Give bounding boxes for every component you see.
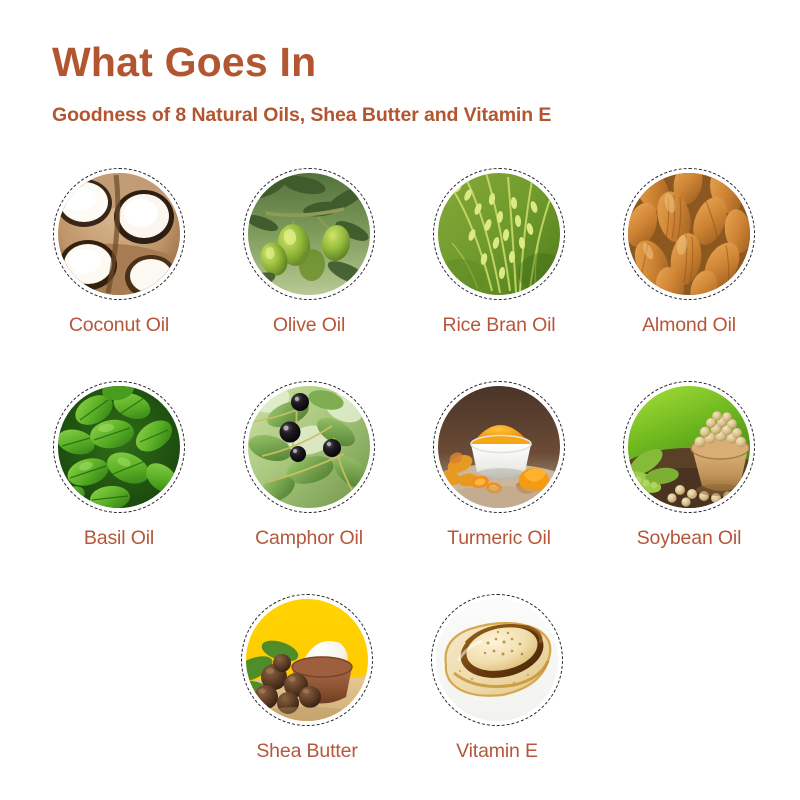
ingredient-label: Shea Butter (256, 740, 357, 763)
ingredient-circle (431, 594, 563, 726)
dashed-ring (241, 594, 373, 726)
ingredient-item-vitamin-e[interactable]: Vitamin E (402, 594, 592, 763)
dashed-ring (623, 381, 755, 513)
ingredient-label: Turmeric Oil (447, 527, 551, 550)
ingredient-circle (623, 381, 755, 513)
ingredient-circle (623, 168, 755, 300)
ingredient-item-coconut-oil[interactable]: Coconut Oil (24, 168, 214, 337)
ingredient-circle (243, 381, 375, 513)
dashed-ring (243, 381, 375, 513)
dashed-ring (53, 381, 185, 513)
ingredient-grid: Coconut Oil (0, 168, 800, 763)
ingredient-circle (433, 381, 565, 513)
ingredient-item-turmeric-oil[interactable]: Turmeric Oil (404, 381, 594, 550)
ingredient-label: Rice Bran Oil (443, 314, 556, 337)
ingredient-row: Basil Oil (0, 381, 800, 550)
ingredient-item-almond-oil[interactable]: Almond Oil (594, 168, 784, 337)
ingredient-row: Coconut Oil (0, 168, 800, 337)
ingredient-circle (53, 168, 185, 300)
ingredient-label: Almond Oil (642, 314, 736, 337)
dashed-ring (433, 381, 565, 513)
dashed-ring (431, 594, 563, 726)
page-subtitle: Goodness of 8 Natural Oils, Shea Butter … (52, 104, 752, 127)
ingredient-item-camphor-oil[interactable]: Camphor Oil (214, 381, 404, 550)
ingredient-label: Vitamin E (456, 740, 538, 763)
header: What Goes In Goodness of 8 Natural Oils,… (52, 40, 752, 127)
ingredient-circle (243, 168, 375, 300)
ingredient-label: Soybean Oil (637, 527, 742, 550)
ingredients-infographic: What Goes In Goodness of 8 Natural Oils,… (0, 0, 800, 800)
ingredient-circle (433, 168, 565, 300)
ingredient-label: Coconut Oil (69, 314, 169, 337)
ingredient-label: Camphor Oil (255, 527, 363, 550)
ingredient-circle (241, 594, 373, 726)
ingredient-label: Basil Oil (84, 527, 154, 550)
page-title: What Goes In (52, 40, 752, 84)
dashed-ring (53, 168, 185, 300)
ingredient-item-basil-oil[interactable]: Basil Oil (24, 381, 214, 550)
ingredient-row: Shea Butter (0, 594, 800, 763)
ingredient-item-shea-butter[interactable]: Shea Butter (212, 594, 402, 763)
ingredient-item-soybean-oil[interactable]: Soybean Oil (594, 381, 784, 550)
ingredient-label: Olive Oil (273, 314, 345, 337)
dashed-ring (433, 168, 565, 300)
dashed-ring (243, 168, 375, 300)
dashed-ring (623, 168, 755, 300)
ingredient-item-rice-bran-oil[interactable]: Rice Bran Oil (404, 168, 594, 337)
ingredient-circle (53, 381, 185, 513)
ingredient-item-olive-oil[interactable]: Olive Oil (214, 168, 404, 337)
